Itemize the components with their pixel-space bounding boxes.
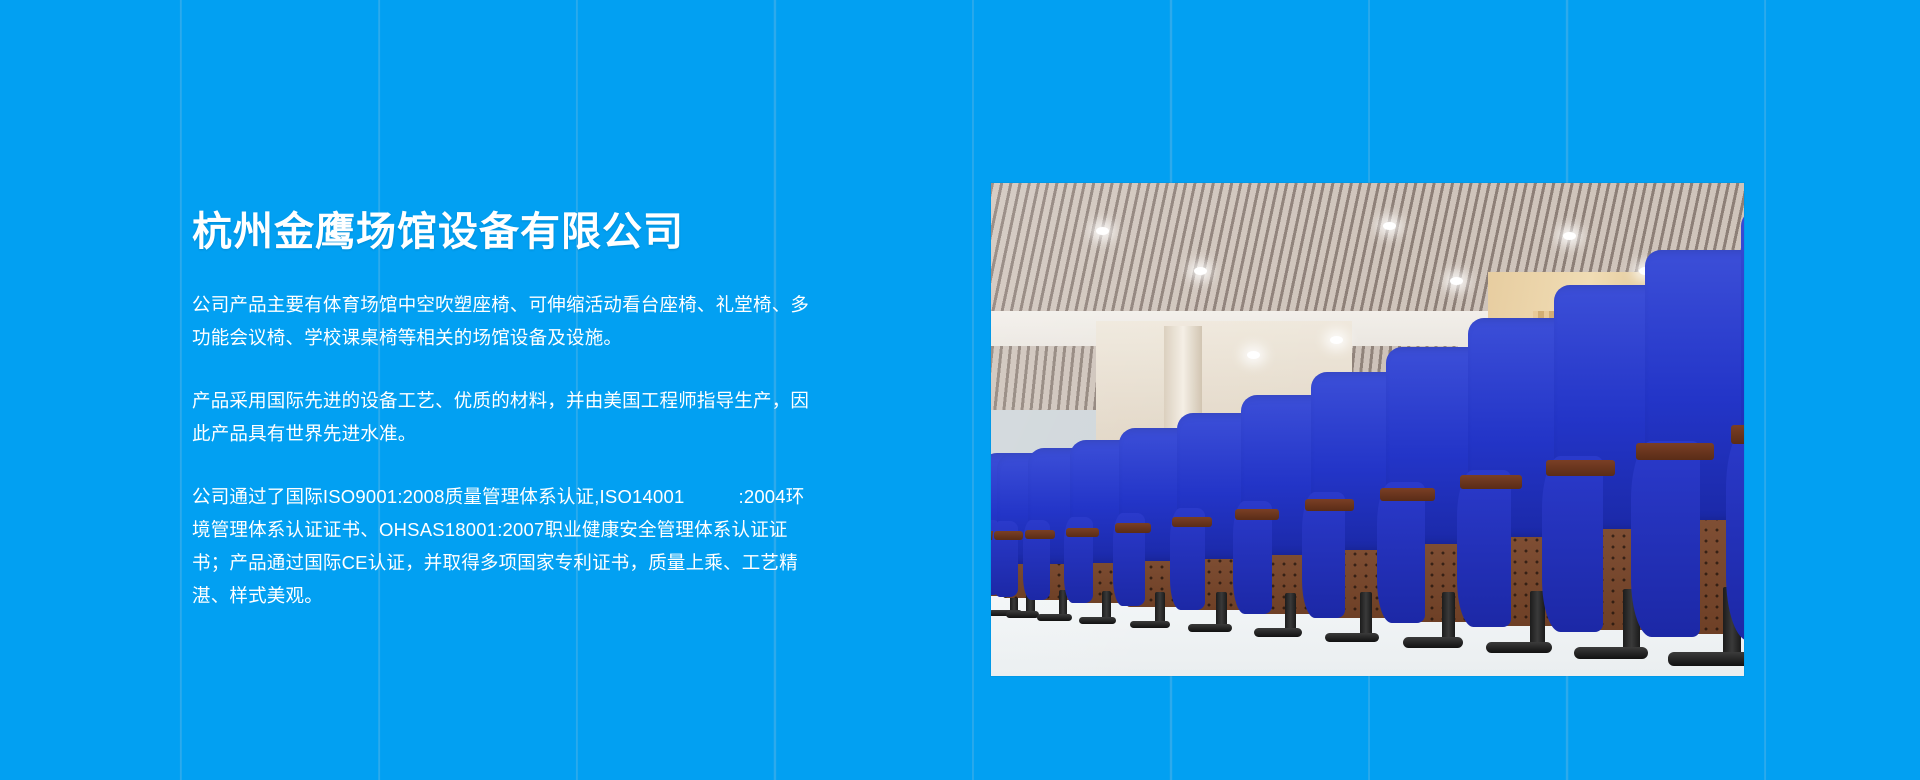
- intro-paragraph-certifications: 公司通过了国际ISO9001:2008质量管理体系认证,ISO14001:200…: [192, 480, 812, 612]
- seat-foot: [1037, 614, 1072, 621]
- seat-armrest-top: [1115, 523, 1151, 533]
- seat-armrest: [1457, 470, 1512, 628]
- intro-paragraph-products: 公司产品主要有体育场馆中空吹塑座椅、可伸缩活动看台座椅、礼堂椅、多功能会议椅、学…: [192, 288, 812, 354]
- seat-armrest-top: [1305, 499, 1354, 511]
- seat-armrest-top: [1460, 475, 1522, 489]
- seat-armrest-top: [1380, 488, 1435, 501]
- seat-armrest-top: [994, 531, 1023, 540]
- page-title: 杭州金鹰场馆设备有限公司: [192, 210, 812, 254]
- seat-foot: [1188, 624, 1232, 632]
- seat-armrest: [1377, 482, 1426, 623]
- seat-armrest-top: [1546, 460, 1616, 476]
- seat-foot: [1486, 642, 1553, 654]
- seat-armrest: [1542, 456, 1603, 632]
- seat-foot: [1079, 617, 1116, 624]
- seat-armrest-top: [1731, 425, 1744, 444]
- seat-armrest-top: [1025, 530, 1056, 539]
- ceiling-light-icon: [1194, 267, 1207, 275]
- intro-text-column: 杭州金鹰场馆设备有限公司 公司产品主要有体育场馆中空吹塑座椅、可伸缩活动看台座椅…: [192, 210, 812, 612]
- seat-armrest-top: [1172, 517, 1212, 527]
- photo-scene: [991, 183, 1744, 676]
- seat-foot: [1325, 633, 1379, 643]
- seat-armrest: [1631, 441, 1699, 637]
- seat-armrest-top: [1636, 443, 1714, 460]
- ceiling-light-icon: [1330, 336, 1343, 344]
- seat-armrest: [1726, 424, 1744, 642]
- banner-stage: 杭州金鹰场馆设备有限公司 公司产品主要有体育场馆中空吹塑座椅、可伸缩活动看台座椅…: [0, 0, 1920, 780]
- seat-foot: [1254, 628, 1303, 637]
- auditorium-seats-photo: [991, 183, 1744, 676]
- seat-foot: [1668, 652, 1744, 666]
- seat-armrest-top: [1235, 509, 1279, 520]
- seat-armrest-top: [1066, 528, 1099, 537]
- certification-text-part-1: 公司通过了国际ISO9001:2008质量管理体系认证,ISO14001: [192, 486, 684, 507]
- seat-foot: [1130, 621, 1170, 628]
- auditorium-seat: [1741, 253, 1744, 672]
- seat-foot: [1574, 647, 1648, 660]
- ceiling-light-icon: [1450, 277, 1463, 285]
- seat-foot: [1403, 637, 1463, 648]
- intro-paragraph-quality: 产品采用国际先进的设备工艺、优质的材料，并由美国工程师指导生产，因此产品具有世界…: [192, 384, 812, 450]
